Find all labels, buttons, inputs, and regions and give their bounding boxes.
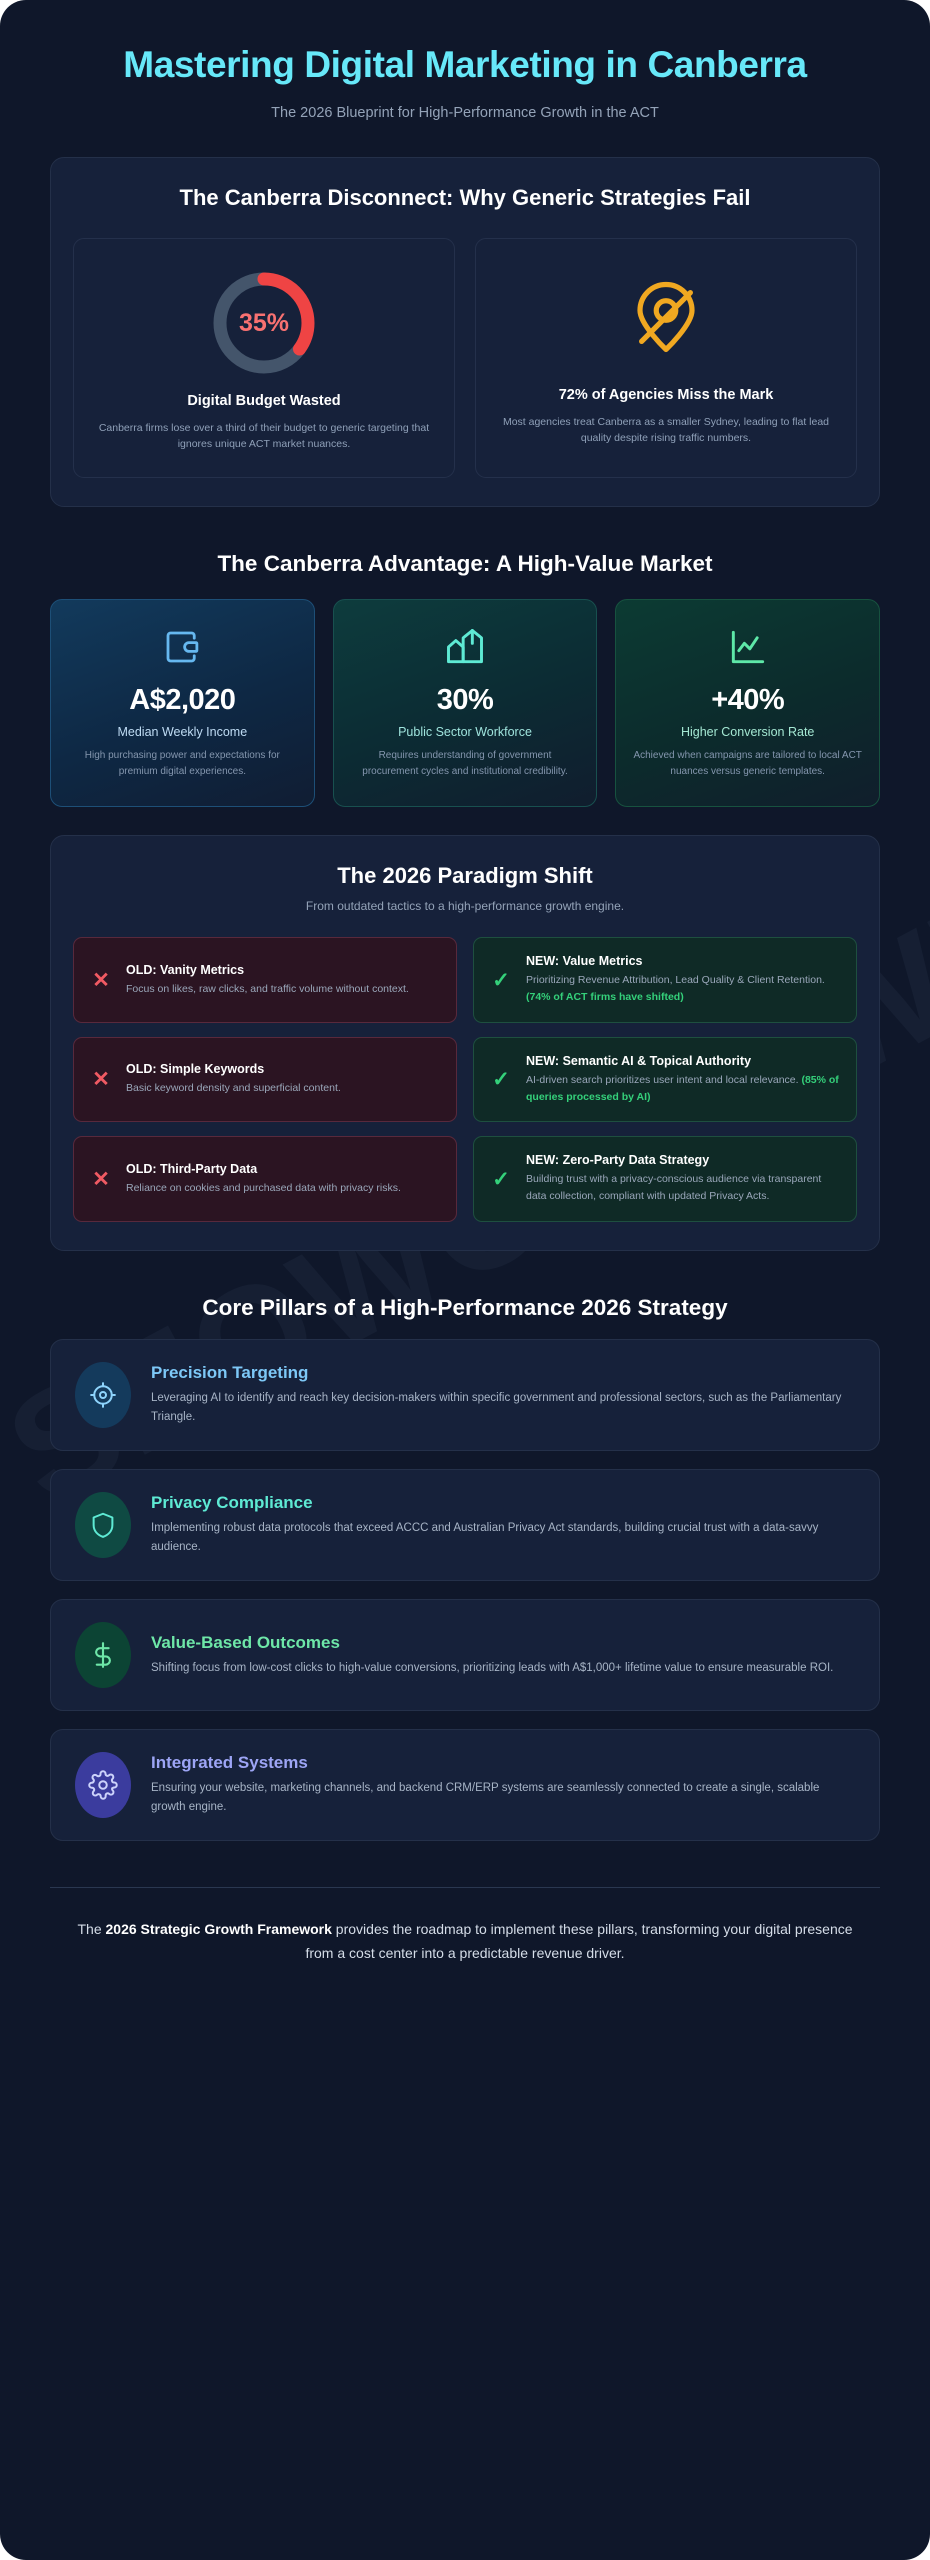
- infographic-page: SEOWORLDWIDE Mastering Digital Marketing…: [0, 0, 930, 2560]
- paradigm-new-desc: Prioritizing Revenue Attribution, Lead Q…: [526, 974, 825, 986]
- pillar-integrated-systems: Integrated Systems Ensuring your website…: [50, 1729, 880, 1841]
- map-pin-off-icon: [496, 261, 836, 373]
- paradigm-new-card: ✓ NEW: Semantic AI & Topical Authority A…: [473, 1037, 857, 1123]
- advantage-description: High purchasing power and expectations f…: [67, 748, 298, 780]
- pillar-description: Leveraging AI to identify and reach key …: [151, 1389, 855, 1427]
- disconnect-panel: The Canberra Disconnect: Why Generic Str…: [50, 157, 880, 507]
- paradigm-grid: ✕ OLD: Vanity Metrics Focus on likes, ra…: [73, 937, 857, 1222]
- shield-icon: [75, 1492, 131, 1558]
- advantage-description: Requires understanding of government pro…: [350, 748, 581, 780]
- donut-center-value: 35%: [208, 267, 320, 379]
- pillar-description: Ensuring your website, marketing channel…: [151, 1779, 855, 1817]
- footer-bold: 2026 Strategic Growth Framework: [106, 1921, 332, 1937]
- check-icon: ✓: [490, 1069, 512, 1090]
- paradigm-new-title: NEW: Zero-Party Data Strategy: [526, 1153, 840, 1167]
- disconnect-card-agencies: 72% of Agencies Miss the Mark Most agenc…: [475, 238, 857, 478]
- page-title: Mastering Digital Marketing in Canberra: [70, 44, 860, 87]
- pillar-precision-targeting: Precision Targeting Leveraging AI to ide…: [50, 1339, 880, 1451]
- advantage-title: The Canberra Advantage: A High-Value Mar…: [50, 551, 880, 577]
- paradigm-new-desc: Building trust with a privacy-conscious …: [526, 1173, 821, 1202]
- pillar-value-based-outcomes: Value-Based Outcomes Shifting focus from…: [50, 1599, 880, 1711]
- advantage-value: 30%: [350, 684, 581, 717]
- gear-icon: [75, 1752, 131, 1818]
- check-icon: ✓: [490, 1169, 512, 1190]
- paradigm-old-card: ✕ OLD: Third-Party Data Reliance on cook…: [73, 1136, 457, 1222]
- paradigm-title: The 2026 Paradigm Shift: [73, 862, 857, 891]
- advantage-card-row: A$2,020 Median Weekly Income High purcha…: [50, 599, 880, 807]
- disconnect-card-description: Most agencies treat Canberra as a smalle…: [496, 414, 836, 447]
- hero-header: Mastering Digital Marketing in Canberra …: [50, 0, 880, 129]
- footer-lead: The: [77, 1921, 105, 1937]
- disconnect-card-description: Canberra firms lose over a third of thei…: [94, 420, 434, 453]
- advantage-description: Achieved when campaigns are tailored to …: [632, 748, 863, 780]
- pillar-title: Privacy Compliance: [151, 1493, 855, 1513]
- cross-icon: ✕: [90, 1069, 112, 1090]
- page-content: Mastering Digital Marketing in Canberra …: [0, 0, 930, 1972]
- paradigm-old-card: ✕ OLD: Simple Keywords Basic keyword den…: [73, 1037, 457, 1123]
- paradigm-subtitle: From outdated tactics to a high-performa…: [73, 899, 857, 913]
- disconnect-card-heading: 72% of Agencies Miss the Mark: [496, 387, 836, 403]
- cross-icon: ✕: [90, 970, 112, 991]
- advantage-card-income: A$2,020 Median Weekly Income High purcha…: [50, 599, 315, 807]
- paradigm-new-highlight: (74% of ACT firms have shifted): [526, 991, 684, 1003]
- paradigm-new-title: NEW: Semantic AI & Topical Authority: [526, 1054, 840, 1068]
- footer: The 2026 Strategic Growth Framework prov…: [50, 1887, 880, 1972]
- paradigm-old-card: ✕ OLD: Vanity Metrics Focus on likes, ra…: [73, 937, 457, 1023]
- crosshair-target-icon: [75, 1362, 131, 1428]
- page-subtitle: The 2026 Blueprint for High-Performance …: [70, 105, 860, 121]
- advantage-value: +40%: [632, 684, 863, 717]
- pillar-title: Value-Based Outcomes: [151, 1633, 855, 1653]
- paradigm-old-desc: Basic keyword density and superficial co…: [126, 1082, 341, 1094]
- paradigm-row: ✕ OLD: Simple Keywords Basic keyword den…: [73, 1037, 857, 1123]
- footer-text: The 2026 Strategic Growth Framework prov…: [76, 1918, 854, 1966]
- paradigm-panel: The 2026 Paradigm Shift From outdated ta…: [50, 835, 880, 1251]
- paradigm-row: ✕ OLD: Vanity Metrics Focus on likes, ra…: [73, 937, 857, 1023]
- advantage-label: Public Sector Workforce: [350, 725, 581, 739]
- wallet-icon: [67, 624, 298, 670]
- paradigm-new-card: ✓ NEW: Value Metrics Prioritizing Revenu…: [473, 937, 857, 1023]
- paradigm-new-card: ✓ NEW: Zero-Party Data Strategy Building…: [473, 1136, 857, 1222]
- buildings-icon: [350, 624, 581, 670]
- paradigm-row: ✕ OLD: Third-Party Data Reliance on cook…: [73, 1136, 857, 1222]
- pillar-title: Integrated Systems: [151, 1753, 855, 1773]
- check-icon: ✓: [490, 970, 512, 991]
- pillar-title: Precision Targeting: [151, 1363, 855, 1383]
- dollar-sign-icon: [75, 1622, 131, 1688]
- disconnect-card-budget: 35% Digital Budget Wasted Canberra firms…: [73, 238, 455, 478]
- pillar-description: Implementing robust data protocols that …: [151, 1519, 855, 1557]
- footer-rest: provides the roadmap to implement these …: [305, 1921, 852, 1961]
- pillar-privacy-compliance: Privacy Compliance Implementing robust d…: [50, 1469, 880, 1581]
- paradigm-old-title: OLD: Simple Keywords: [126, 1062, 440, 1076]
- cross-icon: ✕: [90, 1169, 112, 1190]
- paradigm-old-desc: Focus on likes, raw clicks, and traffic …: [126, 983, 409, 995]
- advantage-value: A$2,020: [67, 684, 298, 717]
- paradigm-new-title: NEW: Value Metrics: [526, 954, 840, 968]
- disconnect-card-heading: Digital Budget Wasted: [94, 393, 434, 409]
- advantage-card-workforce: 30% Public Sector Workforce Requires und…: [333, 599, 598, 807]
- disconnect-title: The Canberra Disconnect: Why Generic Str…: [73, 184, 857, 213]
- paradigm-old-title: OLD: Third-Party Data: [126, 1162, 440, 1176]
- advantage-label: Higher Conversion Rate: [632, 725, 863, 739]
- advantage-card-conversion: +40% Higher Conversion Rate Achieved whe…: [615, 599, 880, 807]
- pillar-description: Shifting focus from low-cost clicks to h…: [151, 1659, 855, 1678]
- pillars-title: Core Pillars of a High-Performance 2026 …: [50, 1295, 880, 1321]
- donut-chart-icon: 35%: [208, 267, 320, 379]
- paradigm-old-desc: Reliance on cookies and purchased data w…: [126, 1182, 401, 1194]
- disconnect-card-row: 35% Digital Budget Wasted Canberra firms…: [73, 238, 857, 478]
- paradigm-new-desc: AI-driven search prioritizes user intent…: [526, 1074, 801, 1086]
- advantage-label: Median Weekly Income: [67, 725, 298, 739]
- line-chart-icon: [632, 624, 863, 670]
- paradigm-old-title: OLD: Vanity Metrics: [126, 963, 440, 977]
